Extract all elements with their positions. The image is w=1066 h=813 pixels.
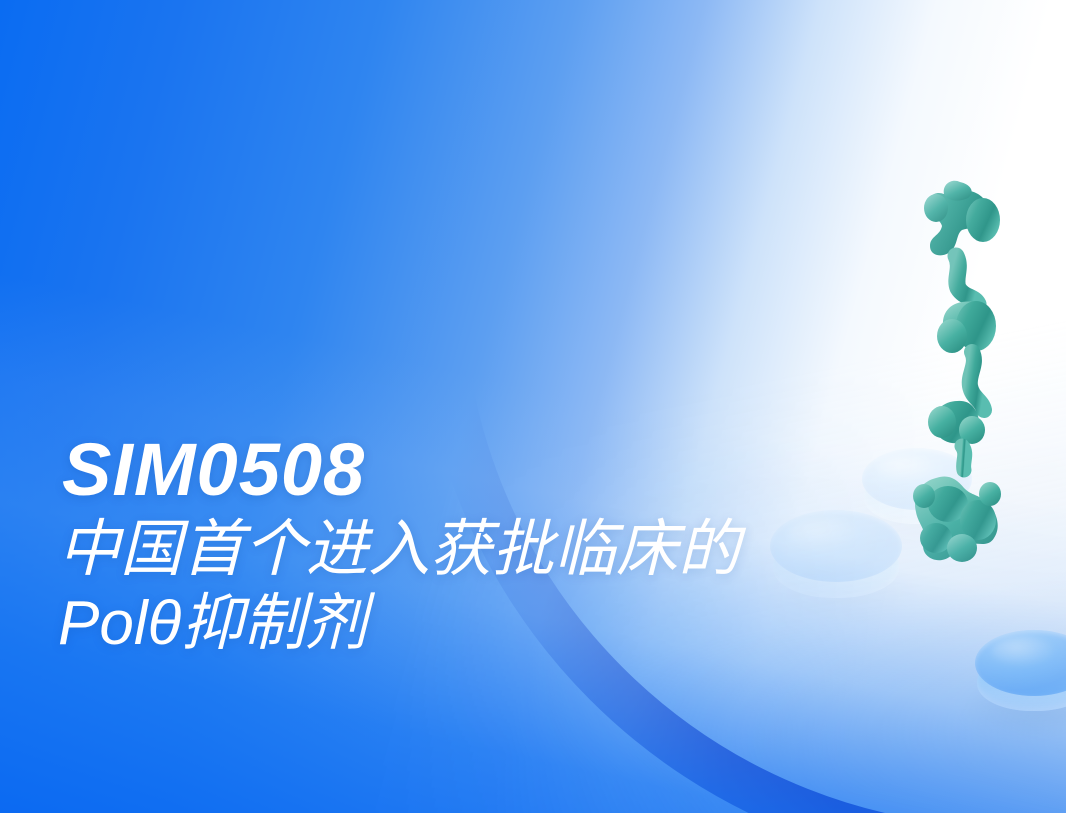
brand-gradient-bottom-overlay [0, 0, 1066, 813]
tagline-line-2: Polθ抑制剂 [58, 587, 898, 660]
headline-block: SIM0508 中国首个进入获批临床的 Polθ抑制剂 [58, 432, 898, 660]
tagline: 中国首个进入获批临床的 Polθ抑制剂 [58, 513, 898, 659]
tagline-line-1: 中国首个进入获批临床的 [58, 513, 898, 586]
product-name: SIM0508 [62, 432, 898, 507]
poster-canvas: SIM0508 中国首个进入获批临床的 Polθ抑制剂 [0, 0, 1066, 813]
